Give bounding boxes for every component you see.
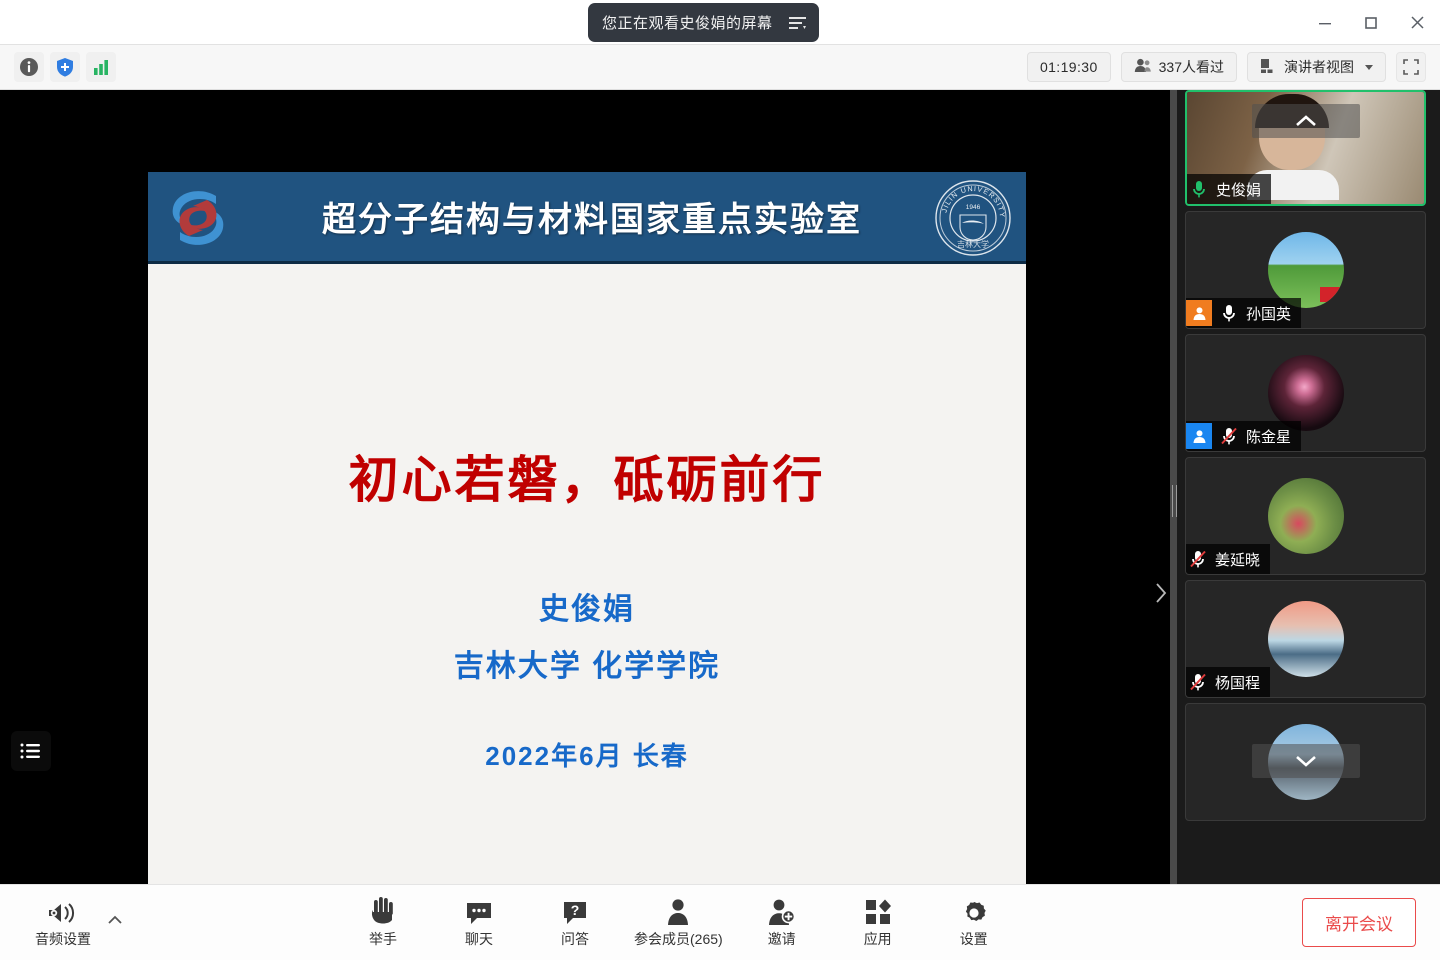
screen-share-notice-text: 您正在观看史俊娟的屏幕: [602, 12, 773, 33]
slide-header-title: 超分子结构与材料国家重点实验室: [148, 192, 1026, 241]
close-icon[interactable]: [1394, 0, 1440, 45]
speaker-view-icon: [1260, 58, 1277, 77]
gear-icon: [960, 896, 988, 926]
chevron-right-icon[interactable]: [1152, 578, 1170, 608]
host-badge-icon: [1186, 300, 1212, 326]
window-controls: [1302, 0, 1440, 45]
chat-bubble-icon: [465, 896, 493, 926]
participant-name: 孙国英: [1246, 303, 1291, 324]
participant-namebar: 姜延晓: [1186, 544, 1270, 574]
qa-button[interactable]: ? 问答: [538, 892, 612, 954]
participant-tile[interactable]: 史俊娟: [1185, 90, 1426, 206]
avatar: [1268, 232, 1344, 308]
mic-on-icon: [1187, 177, 1211, 201]
avatar: [1268, 601, 1344, 677]
meeting-timer: 01:19:30: [1027, 52, 1111, 82]
mic-muted-icon: [1186, 670, 1210, 694]
meeting-bottom-bar: 音频设置 举手: [0, 884, 1440, 960]
avatar: [1268, 478, 1344, 554]
chat-button[interactable]: 聊天: [442, 892, 516, 954]
participants-label: 参会成员(265): [634, 929, 723, 949]
mic-muted-icon: [1186, 547, 1210, 571]
apps-grid-icon: [864, 896, 892, 926]
chevron-down-icon[interactable]: [1252, 744, 1360, 778]
participant-tile[interactable]: 姜延晓: [1185, 457, 1426, 575]
shared-screen-stage: 超分子结构与材料国家重点实验室 JILIN UNIVERSITY · CHINA…: [0, 90, 1177, 884]
slide-date-place: 2022年6月 长春: [148, 736, 1026, 773]
participant-tile[interactable]: [1185, 703, 1426, 821]
signal-bars-icon[interactable]: [86, 52, 116, 82]
svg-text:JILIN UNIVERSITY · CHINA: JILIN UNIVERSITY · CHINA: [934, 179, 1007, 218]
chevron-up-icon[interactable]: [104, 903, 126, 943]
slide-main-title: 初心若磐，砥砺前行: [148, 440, 1026, 512]
audio-settings-button[interactable]: 音频设置: [26, 892, 100, 954]
participants-icon: [665, 896, 691, 926]
qa-label: 问答: [561, 929, 589, 949]
minimize-icon[interactable]: [1302, 0, 1348, 45]
slide-presenter-name: 史俊娟: [148, 584, 1026, 628]
chevron-up-icon[interactable]: [1252, 104, 1360, 138]
participant-name: 史俊娟: [1216, 179, 1261, 200]
apps-label: 应用: [864, 929, 892, 949]
participants-button[interactable]: 参会成员(265): [634, 892, 723, 954]
invite-person-icon: [768, 896, 796, 926]
invite-button[interactable]: 邀请: [745, 892, 819, 954]
view-mode-label: 演讲者视图: [1284, 57, 1354, 77]
viewer-count-chip[interactable]: 337人看过: [1121, 52, 1237, 82]
chat-label: 聊天: [465, 929, 493, 949]
participant-name: 姜延晓: [1215, 549, 1260, 570]
participant-namebar: 陈金星: [1186, 421, 1301, 451]
participants-icon: [1134, 58, 1152, 76]
viewer-count-text: 337人看过: [1159, 57, 1224, 77]
participant-namebar: 杨国程: [1186, 667, 1270, 697]
participant-sidebar[interactable]: 史俊娟 孙国英: [1177, 90, 1440, 884]
participant-tile[interactable]: 杨国程: [1185, 580, 1426, 698]
meeting-toolbar: 01:19:30 337人看过: [0, 45, 1440, 90]
settings-button[interactable]: 设置: [937, 892, 1011, 954]
screen-share-notice: 您正在观看史俊娟的屏幕: [588, 3, 819, 42]
slide-affiliation: 吉林大学 化学学院: [148, 641, 1026, 685]
svg-text:吉林大学: 吉林大学: [957, 239, 989, 249]
presentation-slide: 超分子结构与材料国家重点实验室 JILIN UNIVERSITY · CHINA…: [148, 172, 1026, 920]
participant-namebar: 史俊娟: [1187, 174, 1271, 204]
settings-label: 设置: [960, 929, 988, 949]
info-icon[interactable]: [14, 52, 44, 82]
bottom-bar-actions: 举手 聊天 ?: [346, 892, 1011, 954]
participant-tile[interactable]: 陈金星: [1185, 334, 1426, 452]
panel-resize-handle[interactable]: [1170, 90, 1177, 884]
svg-text:1946: 1946: [966, 204, 981, 211]
slide-header: 超分子结构与材料国家重点实验室 JILIN UNIVERSITY · CHINA…: [148, 172, 1026, 264]
bulleted-list-icon[interactable]: [11, 731, 51, 771]
title-bar: 您正在观看史俊娟的屏幕: [0, 0, 1440, 45]
fullscreen-icon[interactable]: [1396, 52, 1426, 82]
raise-hand-label: 举手: [369, 929, 397, 949]
list-menu-icon[interactable]: [783, 9, 813, 37]
participant-tile[interactable]: 孙国英: [1185, 211, 1426, 329]
mic-muted-icon: [1217, 424, 1241, 448]
speaker-settings-icon: [46, 896, 80, 926]
raise-hand-icon: [370, 896, 396, 926]
toolbar-right-controls: 01:19:30 337人看过: [1027, 52, 1440, 82]
maximize-icon[interactable]: [1348, 0, 1394, 45]
meeting-timer-text: 01:19:30: [1040, 59, 1098, 75]
cohost-badge-icon: [1186, 423, 1212, 449]
participant-name: 杨国程: [1215, 672, 1260, 693]
participant-namebar: 孙国英: [1186, 298, 1301, 328]
toolbar-left-icons: [0, 52, 116, 82]
svg-text:?: ?: [571, 902, 580, 918]
audio-settings-group[interactable]: 音频设置: [0, 892, 126, 954]
audio-settings-label: 音频设置: [35, 929, 91, 949]
raise-hand-button[interactable]: 举手: [346, 892, 420, 954]
leave-meeting-button[interactable]: 离开会议: [1302, 898, 1416, 947]
avatar: [1268, 355, 1344, 431]
slide-body: 初心若磐，砥砺前行 史俊娟 吉林大学 化学学院 2022年6月 长春 1: [148, 264, 1026, 920]
view-mode-selector[interactable]: 演讲者视图: [1247, 52, 1386, 82]
mic-on-icon: [1217, 301, 1241, 325]
shield-plus-icon[interactable]: [50, 52, 80, 82]
question-answer-icon: ?: [562, 896, 588, 926]
supramolecular-lab-logo: [160, 182, 236, 254]
apps-button[interactable]: 应用: [841, 892, 915, 954]
participant-name: 陈金星: [1246, 426, 1291, 447]
invite-label: 邀请: [768, 929, 796, 949]
jilin-university-seal: JILIN UNIVERSITY · CHINA 1946 吉林大学: [934, 179, 1012, 257]
meeting-window: 您正在观看史俊娟的屏幕: [0, 0, 1440, 960]
chevron-down-icon: [1365, 65, 1373, 70]
